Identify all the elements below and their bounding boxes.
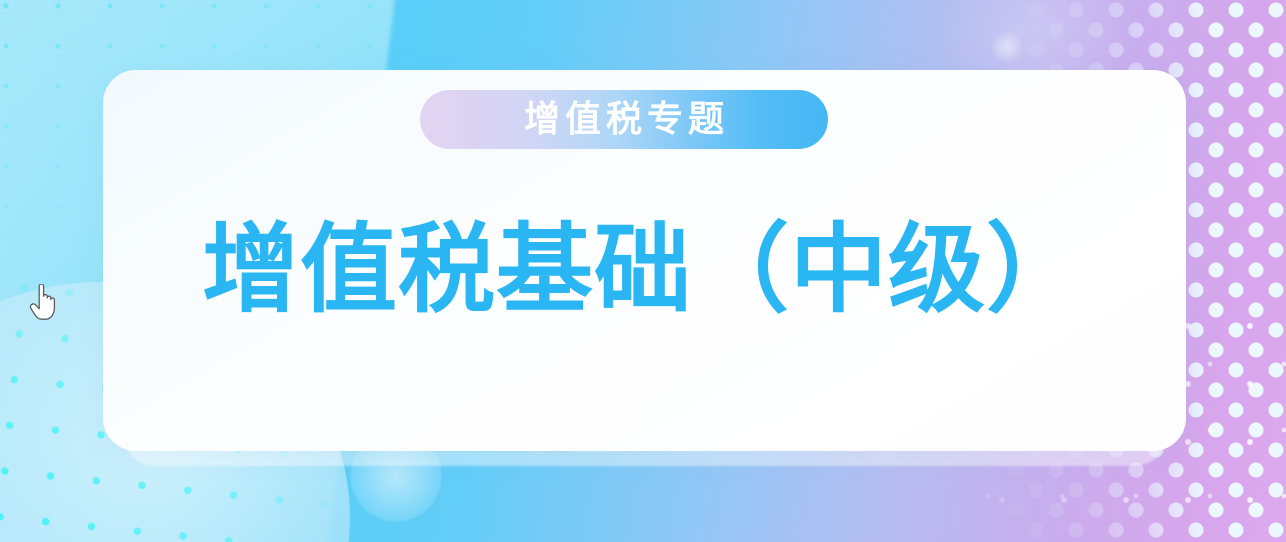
topic-badge[interactable]: 增值税专题 (420, 90, 828, 149)
vat-course-banner: 增值税专题 增值税基础（中级） (0, 0, 1286, 542)
page-title: 增值税基础（中级） (0, 214, 1286, 326)
topic-badge-label: 增值税专题 (519, 102, 729, 138)
